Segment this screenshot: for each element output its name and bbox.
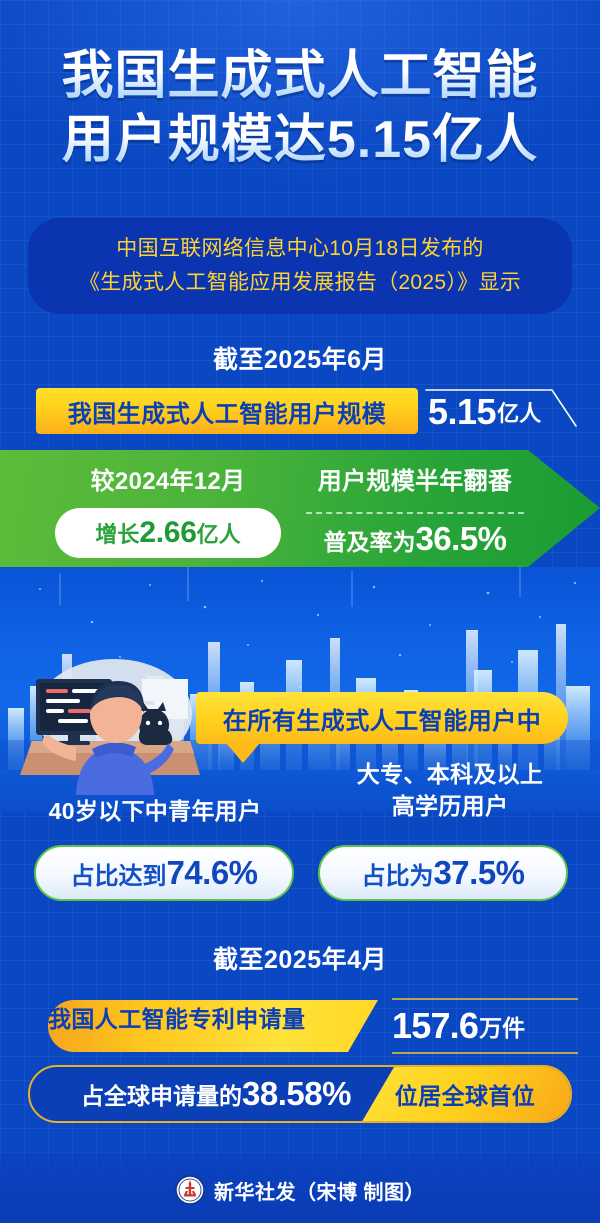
xinhua-logo-icon	[175, 1175, 205, 1205]
growth-column: 较2024年12月 增长2.66亿人	[48, 450, 288, 567]
penetration-column: 用户规模半年翻番 普及率为36.5%	[290, 450, 540, 567]
young-users-prefix: 占比达到	[70, 856, 166, 891]
educated-users-label-line-1: 大专、本科及以上	[305, 758, 595, 790]
growth-value: 2.66	[139, 516, 196, 550]
global-share-stat: 占全球申请量的38.58%	[30, 1075, 402, 1113]
growth-value-pill: 增长2.66亿人	[55, 508, 281, 558]
educated-users-label: 大专、本科及以上 高学历用户	[305, 758, 595, 822]
educated-users-label-line-2: 高学历用户	[305, 790, 595, 822]
patent-count-unit: 万件	[479, 1009, 525, 1043]
global-share-prefix: 占全球申请量的	[81, 1077, 242, 1111]
young-users-stat-pill: 占比达到74.6%	[34, 845, 294, 901]
educated-users-stat-pill: 占比为37.5%	[318, 845, 568, 901]
users-scale-value: 5.15	[428, 391, 496, 433]
dashed-divider	[306, 512, 524, 514]
footer: 新华社发（宋博 制图）	[0, 1170, 600, 1210]
patents-date-label: 截至2025年4月	[0, 940, 600, 976]
source-note-line-2: 《生成式人工智能应用发展报告（2025）》显示	[79, 268, 521, 298]
person-at-computer-illustration	[14, 645, 214, 795]
patent-count-stat: 157.6 万件	[392, 1000, 580, 1052]
title-line-2: 用户规模达5.15亿人	[0, 108, 600, 172]
young-users-value: 74.6%	[166, 854, 257, 892]
penetration-stat: 普及率为36.5%	[290, 520, 540, 558]
growth-arrow-panel: 较2024年12月 增长2.66亿人 用户规模半年翻番 普及率为36.5%	[0, 450, 600, 567]
users-scale-unit: 亿人	[497, 396, 541, 428]
demographics-callout-label: 在所有生成式人工智能用户中	[223, 701, 542, 736]
young-users-label: 40岁以下中青年用户	[10, 795, 300, 827]
footer-credit: 新华社发（宋博 制图）	[214, 1176, 425, 1205]
title-line-1: 我国生成式人工智能	[0, 44, 600, 108]
doubling-label: 用户规模半年翻番	[290, 458, 540, 506]
growth-unit: 亿人	[197, 517, 241, 549]
growth-compare-label: 较2024年12月	[48, 458, 288, 506]
educated-users-value: 37.5%	[433, 854, 524, 892]
page-title: 我国生成式人工智能 用户规模达5.15亿人	[0, 44, 600, 172]
global-share-pill: 占全球申请量的38.58% 位居全球首位	[28, 1065, 572, 1123]
users-scale-stat: 5.15 亿人	[428, 390, 578, 434]
source-note-box: 中国互联网络信息中心10月18日发布的 《生成式人工智能应用发展报告（2025）…	[28, 218, 572, 314]
users-scale-bar-label: 我国生成式人工智能用户规模	[68, 394, 387, 429]
patent-count-value: 157.6	[392, 1005, 478, 1047]
demographics-callout: 在所有生成式人工智能用户中	[196, 692, 568, 744]
global-share-value: 38.58%	[242, 1075, 351, 1113]
infographic-poster: 我国生成式人工智能 用户规模达5.15亿人 中国互联网络信息中心10月18日发布…	[0, 0, 600, 1223]
users-scale-bar: 我国生成式人工智能用户规模	[36, 388, 418, 434]
growth-prefix: 增长	[95, 517, 139, 549]
source-note-line-1: 中国互联网络信息中心10月18日发布的	[116, 234, 483, 264]
patent-count-bar: 我国人工智能专利申请量	[48, 1000, 378, 1052]
patent-count-bar-label: 我国人工智能专利申请量	[48, 1006, 305, 1032]
global-rank-label: 位居全球首位	[395, 1077, 535, 1111]
penetration-value: 36.5%	[415, 520, 506, 557]
users-date-label: 截至2025年6月	[0, 340, 600, 376]
penetration-prefix: 普及率为	[323, 529, 415, 555]
educated-users-prefix: 占比为	[361, 856, 433, 891]
